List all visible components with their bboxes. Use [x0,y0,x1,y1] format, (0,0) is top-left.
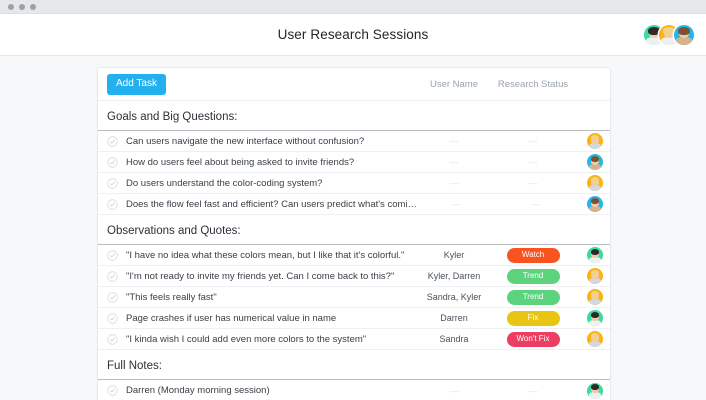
avatar-hair [591,135,600,141]
maximize-dot[interactable] [30,4,36,10]
minimize-dot[interactable] [19,4,25,10]
row-label: "I have no idea what these colors mean, … [126,250,417,261]
cell-avatar [575,175,603,191]
avatar-hair [591,156,600,162]
cell-user-name[interactable]: Darren [417,313,491,323]
cell-avatar [575,268,603,284]
row-avatar[interactable] [587,154,603,170]
row-label: "I'm not ready to invite my friends yet.… [126,271,417,282]
cell-user-name[interactable]: Sandra, Kyler [417,292,491,302]
cell-user-name[interactable]: — [417,136,491,146]
avatar-hair [591,177,600,183]
row-avatar[interactable] [587,331,603,347]
cell-avatar [575,331,603,347]
row-avatar[interactable] [587,268,603,284]
cell-avatar [575,133,603,149]
cell-research-status[interactable]: — [493,199,577,209]
table-row[interactable]: "This feels really fast"Sandra, KylerTre… [98,287,610,308]
table-row[interactable]: Page crashes if user has numerical value… [98,308,610,329]
row-avatar[interactable] [587,310,603,326]
cell-avatar [577,196,603,212]
page-title: User Research Sessions [278,27,429,42]
cell-avatar [575,310,603,326]
row-label: Can users navigate the new interface wit… [126,136,417,147]
check-circle-icon[interactable] [107,271,118,282]
row-avatar[interactable] [587,383,603,399]
cell-research-status[interactable]: — [491,136,575,146]
avatar-body [589,299,601,305]
row-avatar[interactable] [587,133,603,149]
avatar-body [589,320,601,326]
row-avatar[interactable] [587,196,603,212]
cell-user-name[interactable]: Kyler, Darren [417,271,491,281]
section-title: Goals and Big Questions: [98,101,610,131]
avatar-hair [591,270,600,276]
status-badge[interactable]: Trend [507,290,560,305]
cell-avatar [575,289,603,305]
avatar-hair [648,27,659,35]
status-badge[interactable]: Fix [507,311,560,326]
close-dot[interactable] [8,4,14,10]
avatar-hair [591,312,600,318]
avatar-hair [591,291,600,297]
status-badge[interactable]: Won't Fix [507,332,560,347]
cell-research-status[interactable]: Trend [491,290,575,305]
cell-research-status[interactable]: — [491,157,575,167]
check-circle-icon[interactable] [107,250,118,261]
check-circle-icon[interactable] [107,334,118,345]
cell-user-name[interactable]: — [419,199,493,209]
row-label: Darren (Monday morning session) [126,385,417,396]
check-circle-icon[interactable] [107,385,118,396]
cell-research-status[interactable]: — [491,178,575,188]
table-row[interactable]: Do users understand the color-coding sys… [98,173,610,194]
app-header: User Research Sessions [0,14,706,56]
row-label: How do users feel about being asked to i… [126,157,417,168]
section-title: Observations and Quotes: [98,215,610,245]
table-row[interactable]: "I'm not ready to invite my friends yet.… [98,266,610,287]
row-label: Do users understand the color-coding sys… [126,178,417,189]
cell-research-status[interactable]: Won't Fix [491,332,575,347]
cell-avatar [575,383,603,399]
check-circle-icon[interactable] [107,313,118,324]
cell-user-name[interactable]: — [417,157,491,167]
cell-research-status[interactable]: Fix [491,311,575,326]
avatar-hair [678,27,689,35]
row-avatar[interactable] [587,247,603,263]
avatar-hair [591,333,600,339]
row-label: Page crashes if user has numerical value… [126,313,417,324]
task-card: Add Task User Name Research Status Goals… [97,67,611,400]
table-row[interactable]: Darren (Monday morning session)—— [98,380,610,400]
page-body: Add Task User Name Research Status Goals… [0,56,706,400]
row-label: "This feels really fast" [126,292,417,303]
sections-container: Goals and Big Questions:Can users naviga… [98,101,610,400]
window-titlebar [0,0,706,14]
avatar-body [589,164,601,170]
avatar-body [589,206,601,212]
cell-research-status[interactable]: Trend [491,269,575,284]
check-circle-icon[interactable] [107,136,118,147]
row-label: Does the flow feel fast and efficient? C… [126,199,419,210]
avatar-hair [663,27,674,35]
cell-user-name[interactable]: Kyler [417,250,491,260]
avatar-body [589,392,601,398]
avatar-body [676,37,691,45]
row-avatar[interactable] [587,289,603,305]
header-avatar-group[interactable] [644,25,694,45]
row-label: "I kinda wish I could add even more colo… [126,334,417,345]
avatar-hair [591,249,600,255]
table-row[interactable]: Can users navigate the new interface wit… [98,131,610,152]
table-row[interactable]: How do users feel about being asked to i… [98,152,610,173]
table-row[interactable]: Does the flow feel fast and efficient? C… [98,194,610,215]
cell-user-name[interactable]: — [417,386,491,396]
avatar-body [589,341,601,347]
table-row[interactable]: "I have no idea what these colors mean, … [98,245,610,266]
avatar-body [589,278,601,284]
column-header-research-status[interactable]: Research Status [491,79,575,90]
avatar-body [589,257,601,263]
card-toolbar: Add Task User Name Research Status [98,68,610,101]
table-row[interactable]: "I kinda wish I could add even more colo… [98,329,610,350]
status-badge[interactable]: Trend [507,269,560,284]
cell-user-name[interactable]: Sandra [417,334,491,344]
avatar-body [589,185,601,191]
avatar-hair [591,198,600,204]
check-circle-icon[interactable] [107,178,118,189]
add-task-button[interactable]: Add Task [107,74,166,95]
column-header-user-name[interactable]: User Name [417,79,491,90]
cell-research-status[interactable]: Watch [491,248,575,263]
section-title: Full Notes: [98,350,610,380]
cell-avatar [575,247,603,263]
check-circle-icon[interactable] [107,292,118,303]
cell-research-status[interactable]: — [491,386,575,396]
check-circle-icon[interactable] [107,157,118,168]
avatar-body [589,143,601,149]
avatar-member-3[interactable] [674,25,694,45]
status-badge[interactable]: Watch [507,248,560,263]
check-circle-icon[interactable] [107,199,118,210]
row-avatar[interactable] [587,175,603,191]
cell-user-name[interactable]: — [417,178,491,188]
cell-avatar [575,154,603,170]
